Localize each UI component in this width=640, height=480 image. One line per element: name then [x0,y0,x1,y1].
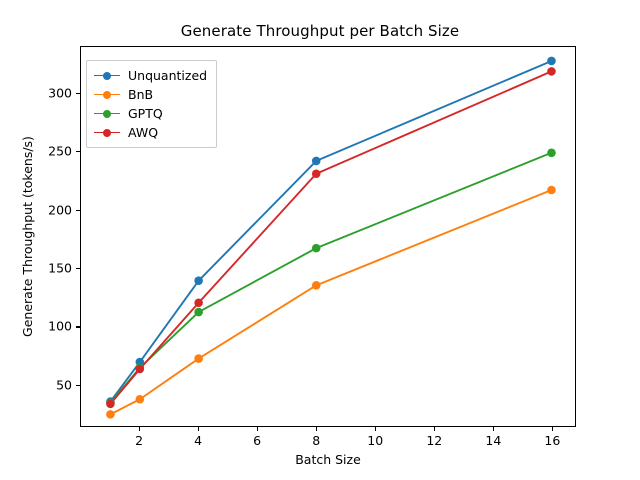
data-point-marker [312,169,321,178]
chart-legend: UnquantizedBnBGPTQAWQ [86,60,217,148]
data-point-marker [136,395,145,404]
x-tick-label: 6 [253,433,261,448]
y-tick-label: 250 [28,144,72,159]
x-tick-label: 16 [544,433,560,448]
data-point-marker [194,276,203,285]
y-tick-label: 300 [28,85,72,100]
data-point-marker [547,67,556,76]
data-point-marker [312,157,321,166]
data-point-marker [312,244,321,253]
legend-swatch-icon [94,70,120,82]
legend-item-label: BnB [128,87,153,102]
x-axis-label: Batch Size [80,452,576,467]
data-point-marker [547,186,556,195]
data-point-marker [547,57,556,66]
x-tick-label: 10 [367,433,383,448]
legend-swatch-icon [94,127,120,139]
x-tick-label: 14 [485,433,501,448]
x-tick-mark [257,427,258,431]
x-tick-label: 12 [426,433,442,448]
y-tick-label: 100 [28,319,72,334]
x-tick-mark [552,427,553,431]
x-tick-label: 2 [135,433,143,448]
data-point-marker [194,298,203,307]
x-tick-mark [375,427,376,431]
y-axis-label: Generate Throughput (tokens/s) [20,46,38,427]
x-tick-mark [493,427,494,431]
x-tick-mark [198,427,199,431]
legend-item-label: Unquantized [128,68,207,83]
data-point-marker [194,308,203,317]
legend-item-unquantized: Unquantized [94,66,207,85]
x-tick-label: 8 [312,433,320,448]
series-line [110,190,551,414]
legend-swatch-icon [94,89,120,101]
x-tick-mark [139,427,140,431]
y-tick-label: 200 [28,202,72,217]
y-tick-label: 150 [28,261,72,276]
y-tick-label: 50 [28,377,72,392]
x-tick-mark [316,427,317,431]
legend-item-gptq: GPTQ [94,104,207,123]
x-tick-label: 4 [194,433,202,448]
data-point-marker [136,365,145,374]
series-line [110,153,551,403]
chart-figure: Generate Throughput per Batch Size Gener… [0,0,640,480]
data-point-marker [312,281,321,290]
x-tick-mark [434,427,435,431]
legend-swatch-icon [94,108,120,120]
legend-item-label: AWQ [128,125,158,140]
legend-item-label: GPTQ [128,106,163,121]
chart-title: Generate Throughput per Batch Size [0,22,640,40]
data-point-marker [194,354,203,363]
data-point-marker [547,149,556,158]
data-point-marker [106,410,115,419]
data-point-marker [106,400,115,409]
legend-item-awq: AWQ [94,123,207,142]
legend-item-bnb: BnB [94,85,207,104]
